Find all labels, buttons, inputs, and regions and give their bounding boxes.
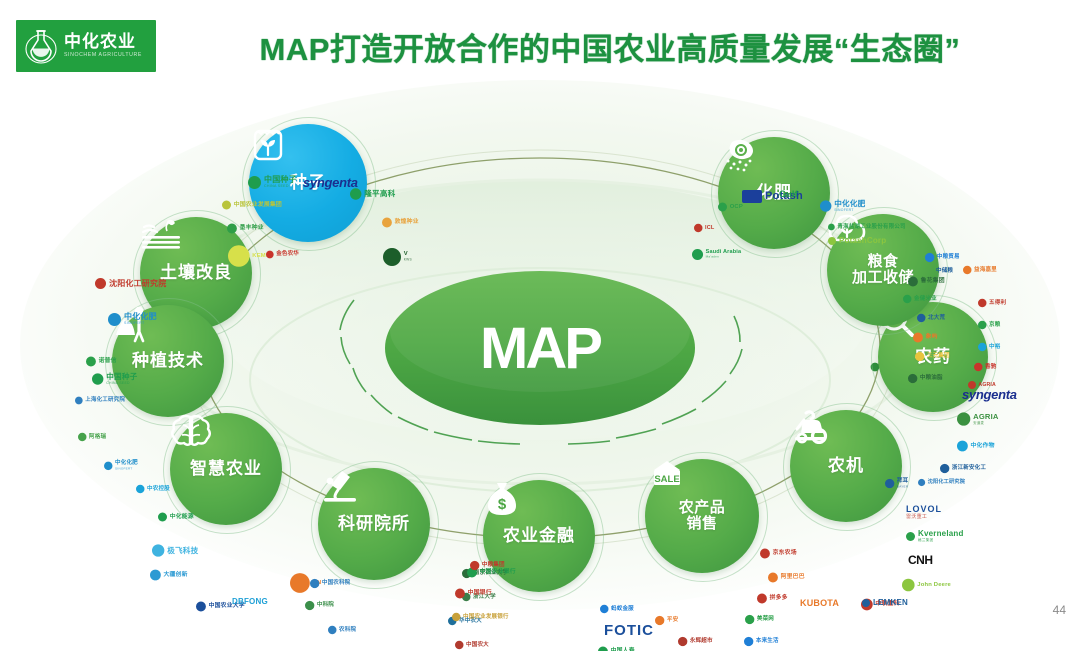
node-machinery-label: 农机 xyxy=(828,457,864,475)
partner-logo: LOVOL雷沃重工 xyxy=(906,505,942,520)
node-soil-label: 土壤改良 xyxy=(160,264,232,282)
partner-logo: LEMKEN xyxy=(862,599,908,607)
node-grain-label-1: 粮食 xyxy=(867,254,898,270)
node-planting-label: 种植技术 xyxy=(132,352,204,370)
partner-logo: 沈阳化工研究院 xyxy=(95,278,166,289)
node-smart[interactable]: 智慧农业 xyxy=(170,413,282,525)
brand-name-en: SINOCHEM AGRICULTURE xyxy=(64,53,142,58)
seed-packet-icon xyxy=(249,124,287,164)
logo-mark xyxy=(150,570,161,581)
partner-logo: 中裕 xyxy=(978,343,1000,352)
logo-mark xyxy=(692,249,703,260)
logo-mark xyxy=(862,599,870,607)
logo-mark xyxy=(678,637,687,646)
partner-logo: 象屿 xyxy=(913,333,938,343)
node-smart-label: 智慧农业 xyxy=(190,460,262,478)
microscope-icon xyxy=(318,468,360,504)
logo-mark xyxy=(228,245,250,267)
logo-mark xyxy=(152,544,164,556)
logo-mark xyxy=(978,299,987,308)
logo-mark xyxy=(108,313,121,326)
logo-mark xyxy=(598,647,608,651)
partner-logo: 京东农场 xyxy=(760,549,797,559)
partner-logo: Gulf xyxy=(779,190,798,199)
partner-logo: 中科院 xyxy=(305,601,334,610)
partner-logo: 中储粮 xyxy=(936,268,953,274)
logo-mark xyxy=(310,579,319,588)
partner-logo: 中化化肥SINOFERT xyxy=(104,461,138,470)
partner-logo: 中国种子CHINA SEED xyxy=(248,176,297,189)
partner-logo: syngenta xyxy=(962,388,1017,401)
logo-mark xyxy=(978,343,987,352)
logo-mark xyxy=(222,201,231,210)
logo-mark xyxy=(95,278,106,289)
logo-mark xyxy=(196,602,206,612)
flask-icon xyxy=(24,27,58,65)
partner-logo: 北大荒 xyxy=(917,314,945,323)
logo-mark xyxy=(902,579,915,592)
partner-logo: 蚂蚁金服 xyxy=(600,605,634,614)
partner-logo: syngenta xyxy=(303,176,358,189)
partner-logo: FOTIC xyxy=(604,623,654,638)
partner-logo: OCP xyxy=(718,203,743,212)
tractor-icon xyxy=(790,410,834,444)
partner-logo: Kverneland格兰集团 xyxy=(906,530,964,543)
logo-mark xyxy=(470,561,479,570)
logo-mark xyxy=(957,441,968,452)
logo-mark xyxy=(908,277,918,287)
node-finance-label: 农业金融 xyxy=(503,527,575,545)
partner-logo: 阿格瑞 xyxy=(78,433,106,442)
logo-mark xyxy=(600,605,609,614)
partner-logo: 农科院 xyxy=(328,626,356,635)
slide-root: 中化农业 SINOCHEM AGRICULTURE MAP打造开放合作的中国农业… xyxy=(0,0,1080,651)
partner-logo: PotashCorp xyxy=(828,237,886,245)
logo-mark xyxy=(917,314,926,323)
partner-logo: 本来生活 xyxy=(744,637,779,646)
node-machinery[interactable]: 农机 xyxy=(790,410,902,522)
partner-logo: 中国农业发展集团 xyxy=(222,201,282,210)
partner-logo: 隆平高科 xyxy=(350,188,395,199)
logo-mark xyxy=(968,381,976,389)
logo-mark xyxy=(104,461,113,470)
logo-mark xyxy=(768,573,778,583)
partner-logo: ICL xyxy=(694,224,714,233)
partner-logo: 中国农科院 xyxy=(310,579,350,588)
partner-logo: 垦丰种业 xyxy=(227,224,264,234)
logo-mark xyxy=(694,224,703,233)
logo-mark xyxy=(978,321,987,330)
partner-logo: 京粮 xyxy=(978,321,1000,330)
page-title: MAP打造开放合作的中国农业高质量发展“生态圈” xyxy=(195,18,1025,74)
partner-logo: 敦煌种业 xyxy=(382,218,419,228)
logo-mark xyxy=(86,357,96,367)
logo-mark xyxy=(974,363,983,372)
partner-logo: 拼多多 xyxy=(757,594,788,604)
partner-logo: 平安 xyxy=(655,616,678,625)
fertilizer-bag-icon xyxy=(718,137,760,173)
brand-name-cn: 中化农业 xyxy=(64,33,142,50)
partner-logo: 中农控股 xyxy=(136,485,170,494)
logo-mark xyxy=(290,573,310,593)
logo-mark xyxy=(757,594,767,604)
sale-sign-icon: SALE xyxy=(645,459,689,491)
logo-mark xyxy=(455,589,465,599)
center-wordmark: MAP xyxy=(480,316,601,381)
partner-logo: KUBOTA xyxy=(800,599,839,608)
partner-logo: 中国农业发展银行 xyxy=(452,613,509,622)
partner-logo: 美菜网 xyxy=(745,615,774,624)
node-grain-label-2: 加工收储 xyxy=(852,270,914,286)
logo-mark xyxy=(963,266,972,275)
brain-icon xyxy=(170,413,212,449)
logo-mark xyxy=(655,616,664,625)
partner-logo: 中国种子CHINA SEED xyxy=(92,373,137,385)
node-research-label: 科研院所 xyxy=(338,515,410,533)
logo-mark xyxy=(745,615,754,624)
logo-mark xyxy=(820,201,831,212)
partner-logo: 香驰 xyxy=(974,363,996,372)
logo-mark xyxy=(455,641,464,650)
logo-mark xyxy=(158,513,167,522)
logo-mark xyxy=(903,295,912,304)
partner-logo: 诺普信 xyxy=(86,357,117,367)
partner-logo: 中粮集团 xyxy=(470,561,505,570)
partner-logo: 鲁花集团 xyxy=(908,277,945,287)
logo-mark xyxy=(266,251,274,259)
logo-mark xyxy=(913,333,923,343)
partner-logo: John Deere xyxy=(902,579,951,592)
partner-logo: 浙江新安化工 xyxy=(940,464,986,473)
logo-mark xyxy=(940,464,949,473)
partner-logo: 金健米业 xyxy=(903,295,937,304)
ecosystem-diagram: MAP 种子 xyxy=(0,80,1080,640)
partner-logo: AGRIA xyxy=(968,381,996,389)
partner-logo: 中化化肥SINOFERT xyxy=(820,200,865,212)
partner-logo: AGRIA安道麦 xyxy=(957,412,999,425)
partner-logo: 中粮贸易 xyxy=(925,253,960,262)
partner-logo: 中粮油脂 xyxy=(908,374,943,383)
logo-mark xyxy=(382,218,392,228)
node-research[interactable]: 科研院所 xyxy=(318,468,430,580)
partner-logo: DBFONG xyxy=(232,598,268,606)
logo-mark xyxy=(718,203,727,212)
logo-mark xyxy=(248,176,261,189)
partner-logo: 中国农大 xyxy=(455,641,489,650)
partner-logo: CNH xyxy=(908,554,933,566)
logo-mark xyxy=(452,613,461,622)
logo-mark xyxy=(915,352,924,361)
partner-logo: 青海盐湖工业股份有限公司 xyxy=(828,224,906,231)
partner-logo: 五得利 xyxy=(978,299,1006,308)
partner-logo: 中化能源 xyxy=(158,513,194,522)
logo-mark xyxy=(885,479,894,488)
logo-mark xyxy=(918,479,925,486)
partner-logo: 拜耳BAYER xyxy=(885,479,908,488)
partner-logo: 极飞科技 xyxy=(152,544,198,556)
logo-mark xyxy=(75,397,83,405)
node-grain[interactable]: 粮食 加工收储 xyxy=(827,214,939,326)
logo-mark xyxy=(957,412,970,425)
logo-mark xyxy=(136,485,145,494)
svg-text:SALE: SALE xyxy=(654,474,679,485)
partner-logo: Saudi ArabiaMa'aden xyxy=(692,249,741,260)
logo-mark xyxy=(328,626,337,635)
logo-mark xyxy=(828,237,836,245)
logo-mark xyxy=(227,224,237,234)
partner-logo: 益海嘉里 xyxy=(963,266,997,275)
partner-logo: 永辉超市 xyxy=(678,637,713,646)
partner-logo: 中国银行 xyxy=(455,589,492,599)
partner-logo: 三元集团 xyxy=(915,352,950,361)
money-bag-icon: $ xyxy=(483,480,521,518)
node-sales[interactable]: SALE 农产品 销售 xyxy=(645,459,759,573)
logo-mark xyxy=(908,374,917,383)
logo-mark xyxy=(350,188,361,199)
partner-logo: 上海化工研究院 xyxy=(75,397,125,405)
partner-logo: 阿里巴巴 xyxy=(768,573,805,583)
partner-logo: 中国人寿 xyxy=(598,647,635,651)
node-sales-label-1: 农产品 xyxy=(679,500,726,516)
node-sales-label-2: 销售 xyxy=(686,516,717,532)
partner-logo: VKWS xyxy=(383,248,412,266)
brand-logo: 中化农业 SINOCHEM AGRICULTURE xyxy=(16,20,156,72)
logo-mark xyxy=(760,549,770,559)
logo-mark xyxy=(305,601,314,610)
logo-mark xyxy=(925,253,934,262)
soil-layers-icon xyxy=(140,217,182,251)
logo-mark xyxy=(92,374,103,385)
partner-logo: 沈阳化工研究院 xyxy=(918,479,965,486)
partner-logo: 中化化肥SINOFERT xyxy=(108,313,157,326)
partner-logo: 金色农华 xyxy=(266,251,299,259)
logo-mark xyxy=(906,532,915,541)
logo-mark xyxy=(78,433,87,442)
logo-mark xyxy=(383,248,401,266)
partner-logo: 中化作物 xyxy=(957,441,995,452)
svg-text:$: $ xyxy=(498,496,507,513)
partner-logo: 大疆创新 xyxy=(150,570,188,581)
logo-mark xyxy=(744,637,753,646)
logo-mark xyxy=(828,224,835,231)
